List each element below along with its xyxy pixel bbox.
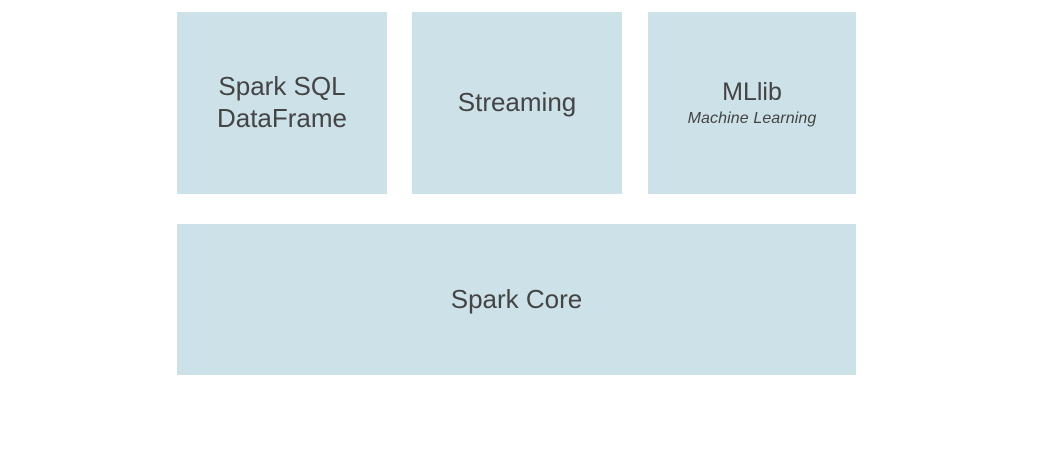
diagram-node-streaming[interactable]: Streaming	[412, 12, 622, 194]
diagram-node-spark-sql[interactable]: Spark SQL DataFrame	[177, 12, 387, 194]
diagram-node-spark-core-label: Spark Core	[451, 284, 583, 316]
diagram-node-streaming-label: Streaming	[458, 87, 577, 119]
diagram-node-spark-sql-label: Spark SQL DataFrame	[217, 71, 347, 134]
diagram-node-mllib-label: MLlib	[722, 77, 782, 108]
spark-stack-diagram: Spark SQL DataFrame Streaming MLlib Mach…	[0, 0, 1053, 457]
diagram-node-mllib-subtitle: Machine Learning	[688, 109, 817, 129]
diagram-node-mllib[interactable]: MLlib Machine Learning	[648, 12, 856, 194]
diagram-node-spark-core[interactable]: Spark Core	[177, 224, 856, 375]
